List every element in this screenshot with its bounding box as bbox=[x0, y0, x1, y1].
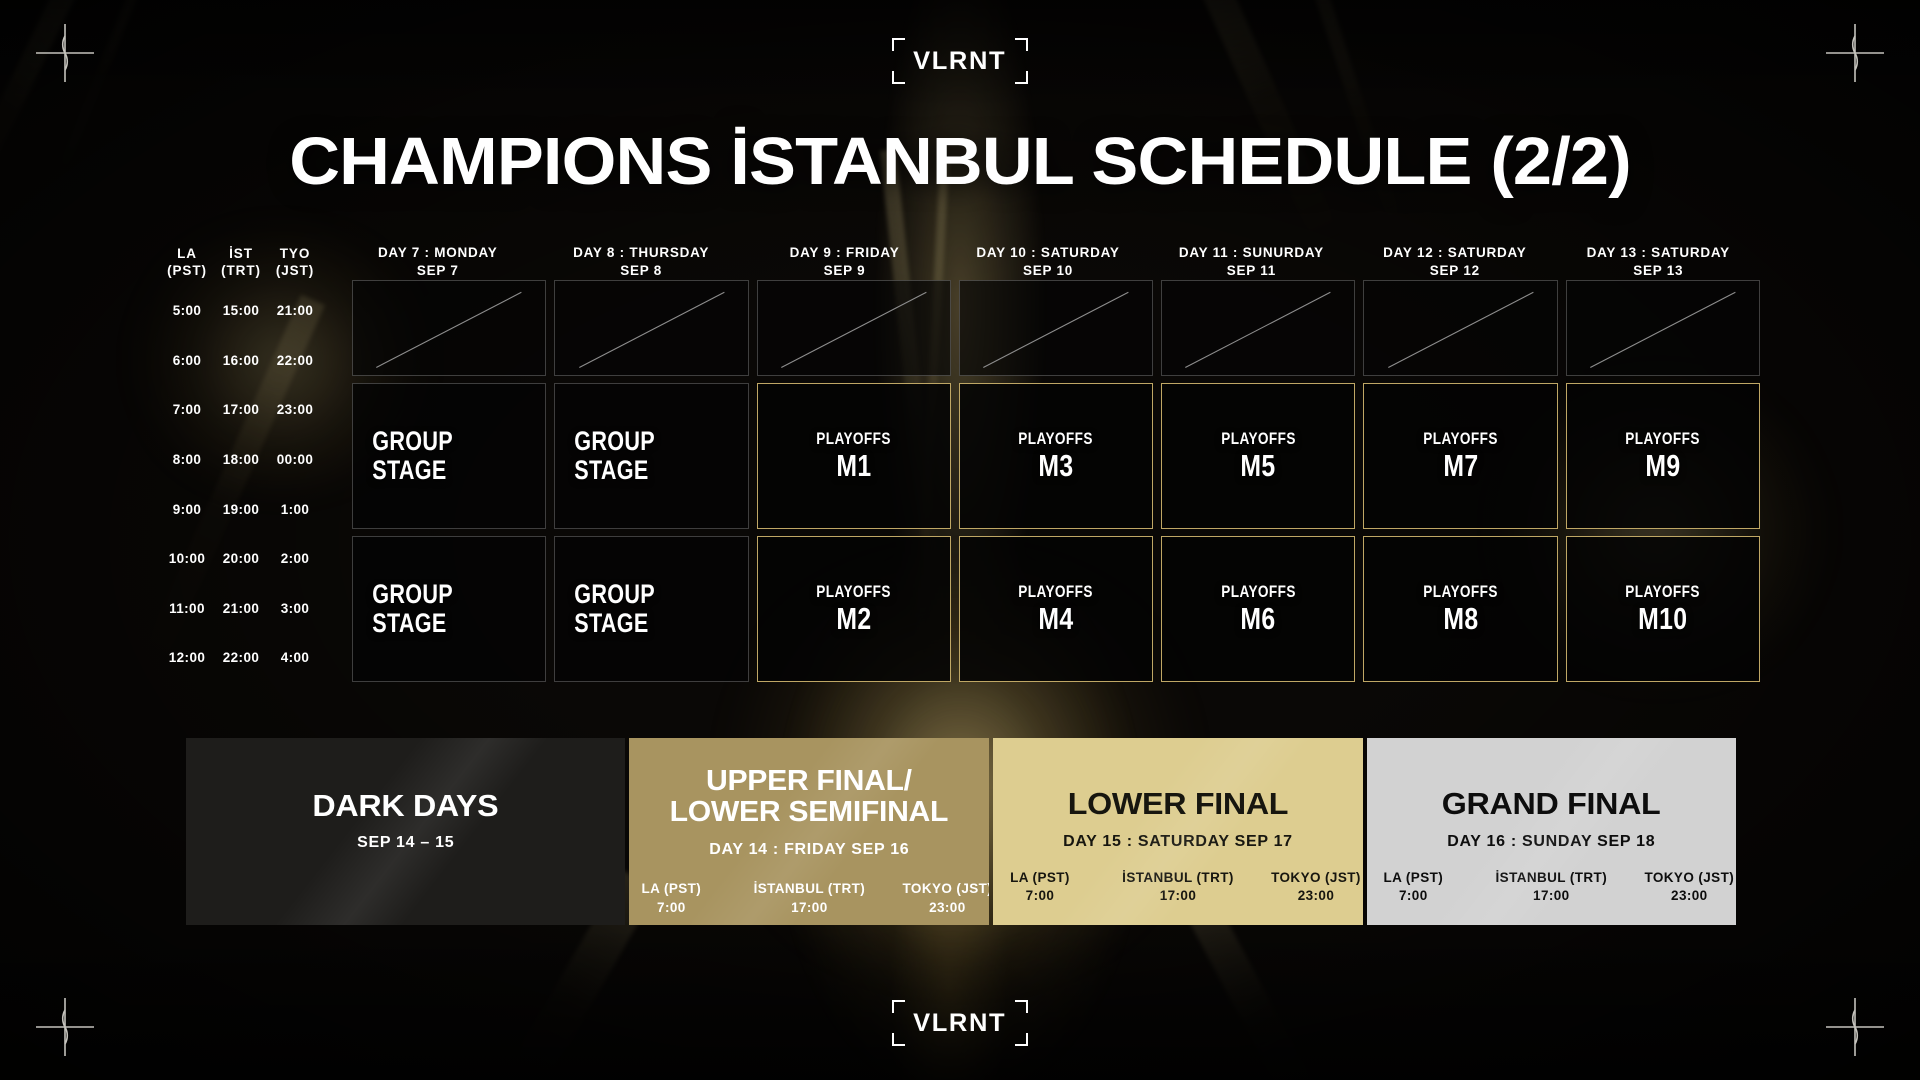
grid-row-match-2: GROUP STAGE GROUP STAGE PLAYOFFS M2 PLAY… bbox=[352, 536, 1760, 682]
panel-title-line1: UPPER FINAL/ bbox=[706, 765, 912, 797]
time-la: 9:00 bbox=[160, 502, 214, 517]
panel-timezones: LA (PST) 7:00 İSTANBUL (TRT) 17:00 TOKYO… bbox=[629, 880, 989, 916]
page-title: CHAMPIONS İSTANBUL SCHEDULE (2/2) bbox=[0, 128, 1920, 195]
bracket-corner-icon bbox=[1015, 1000, 1028, 1013]
crosshair-icon-bottom-left bbox=[34, 996, 96, 1058]
cell-label: GROUP STAGE bbox=[372, 580, 526, 638]
bracket-corner-icon bbox=[1015, 71, 1028, 84]
panel-timezone-istanbul: İSTANBUL (TRT) 17:00 bbox=[1495, 869, 1607, 905]
day-header-10: DAY 10 : SATURDAY SEP 10 bbox=[946, 244, 1149, 280]
schedule-cell-empty[interactable] bbox=[352, 280, 546, 376]
time-row: 11:00 21:00 3:00 bbox=[160, 584, 336, 634]
schedule-cell-playoff-m7[interactable]: PLAYOFFS M7 bbox=[1363, 383, 1557, 529]
grid-row-empty bbox=[352, 280, 1760, 376]
cell-label: PLAYOFFS bbox=[1423, 430, 1497, 449]
cell-label: GROUP STAGE bbox=[372, 427, 526, 485]
time-tyo: 21:00 bbox=[268, 303, 322, 318]
cell-match-id: M4 bbox=[1038, 603, 1073, 636]
schedule-cell-playoff-m5[interactable]: PLAYOFFS M5 bbox=[1161, 383, 1355, 529]
panel-upper-final[interactable]: UPPER FINAL/ LOWER SEMIFINAL DAY 14 : FR… bbox=[629, 738, 989, 925]
timezone-header-ist: İST (TRT) bbox=[214, 246, 268, 280]
diagonal-slash-icon bbox=[1382, 281, 1540, 375]
time-row: 9:00 19:00 1:00 bbox=[160, 484, 336, 534]
cell-label: PLAYOFFS bbox=[1221, 430, 1295, 449]
cell-label: PLAYOFFS bbox=[816, 583, 890, 602]
time-la: 10:00 bbox=[160, 551, 214, 566]
diagonal-slash-icon bbox=[775, 281, 933, 375]
bracket-corner-icon bbox=[892, 71, 905, 84]
panel-timezone-tokyo: TOKYO (JST) 23:00 bbox=[1633, 869, 1736, 905]
schedule-cell-playoff-m4[interactable]: PLAYOFFS M4 bbox=[959, 536, 1153, 682]
panel-sheen bbox=[186, 738, 625, 925]
cell-label: GROUP STAGE bbox=[575, 580, 729, 638]
time-ist: 18:00 bbox=[214, 452, 268, 467]
time-ist: 17:00 bbox=[214, 402, 268, 417]
cell-label: PLAYOFFS bbox=[1221, 583, 1295, 602]
panel-title: DARK DAYS bbox=[313, 790, 499, 823]
cell-match-id: M8 bbox=[1443, 603, 1478, 636]
time-row: 8:00 18:00 00:00 bbox=[160, 435, 336, 485]
panel-subtitle: SEP 14 – 15 bbox=[357, 834, 454, 852]
panel-timezone-la: LA (PST) 7:00 bbox=[993, 869, 1096, 905]
diagonal-slash-icon bbox=[1584, 281, 1742, 375]
time-tyo: 23:00 bbox=[268, 402, 322, 417]
schedule-cell-playoff-m8[interactable]: PLAYOFFS M8 bbox=[1363, 536, 1557, 682]
crosshair-icon-top-left bbox=[34, 22, 96, 84]
panel-grand-final[interactable]: GRAND FINAL DAY 16 : SUNDAY SEP 18 LA (P… bbox=[1367, 738, 1736, 925]
panel-title-line2: LOWER SEMIFINAL bbox=[670, 796, 948, 828]
schedule-cell-empty[interactable] bbox=[1363, 280, 1557, 376]
time-ist: 21:00 bbox=[214, 601, 268, 616]
panel-title: UPPER FINAL/ LOWER SEMIFINAL bbox=[670, 766, 948, 827]
time-la: 12:00 bbox=[160, 650, 214, 665]
day-header-11: DAY 11 : SUNURDAY SEP 11 bbox=[1150, 244, 1353, 280]
time-ist: 22:00 bbox=[214, 650, 268, 665]
schedule-cell-empty[interactable] bbox=[554, 280, 748, 376]
time-row: 12:00 22:00 4:00 bbox=[160, 633, 336, 683]
day-header-9: DAY 9 : FRIDAY SEP 9 bbox=[743, 244, 946, 280]
time-la: 8:00 bbox=[160, 452, 214, 467]
schedule-cell-group-stage[interactable]: GROUP STAGE bbox=[352, 383, 546, 529]
panel-timezone-tokyo: TOKYO (JST) 23:00 bbox=[1260, 869, 1363, 905]
wordmark: VLRNT bbox=[913, 47, 1006, 76]
cell-match-id: M10 bbox=[1638, 603, 1687, 636]
match-grid: GROUP STAGE GROUP STAGE PLAYOFFS M1 PLAY… bbox=[336, 280, 1760, 683]
vlrnt-logo-bottom: VLRNT bbox=[892, 1000, 1028, 1046]
time-row: 7:00 17:00 23:00 bbox=[160, 385, 336, 435]
timezone-header-tyo: TYO (JST) bbox=[268, 246, 322, 280]
diagonal-slash-icon bbox=[370, 281, 528, 375]
panel-timezone-istanbul: İSTANBUL (TRT) 17:00 bbox=[1122, 869, 1234, 905]
bracket-corner-icon bbox=[892, 1033, 905, 1046]
diagonal-slash-icon bbox=[1179, 281, 1337, 375]
cell-match-id: M7 bbox=[1443, 450, 1478, 483]
cell-label: PLAYOFFS bbox=[1423, 583, 1497, 602]
panel-timezone-tokyo: TOKYO (JST) 23:00 bbox=[891, 880, 989, 916]
time-tyo: 22:00 bbox=[268, 353, 322, 368]
cell-label: PLAYOFFS bbox=[1019, 583, 1093, 602]
time-tyo: 00:00 bbox=[268, 452, 322, 467]
schedule-cell-playoff-m1[interactable]: PLAYOFFS M1 bbox=[757, 383, 951, 529]
bracket-corner-icon bbox=[892, 38, 905, 51]
schedule-cell-playoff-m3[interactable]: PLAYOFFS M3 bbox=[959, 383, 1153, 529]
schedule-header-row: LA (PST) İST (TRT) TYO (JST) DAY 7 : MON… bbox=[160, 236, 1760, 280]
time-la: 6:00 bbox=[160, 353, 214, 368]
time-row: 10:00 20:00 2:00 bbox=[160, 534, 336, 584]
panel-lower-final[interactable]: LOWER FINAL DAY 15 : SATURDAY SEP 17 LA … bbox=[993, 738, 1362, 925]
schedule-cell-empty[interactable] bbox=[959, 280, 1153, 376]
cell-label: GROUP STAGE bbox=[575, 427, 729, 485]
schedule-table: LA (PST) İST (TRT) TYO (JST) DAY 7 : MON… bbox=[160, 236, 1760, 683]
time-la: 7:00 bbox=[160, 402, 214, 417]
time-ist: 19:00 bbox=[214, 502, 268, 517]
panel-timezones: LA (PST) 7:00 İSTANBUL (TRT) 17:00 TOKYO… bbox=[1367, 869, 1736, 905]
time-tyo: 1:00 bbox=[268, 502, 322, 517]
panel-subtitle: DAY 14 : FRIDAY SEP 16 bbox=[709, 841, 909, 859]
cell-label: PLAYOFFS bbox=[1626, 583, 1700, 602]
cell-match-id: M9 bbox=[1645, 450, 1680, 483]
bracket-corner-icon bbox=[1015, 38, 1028, 51]
cell-match-id: M1 bbox=[836, 450, 871, 483]
crosshair-icon-bottom-right bbox=[1824, 996, 1886, 1058]
panel-subtitle: DAY 15 : SATURDAY SEP 17 bbox=[1063, 833, 1293, 851]
bracket-corner-icon bbox=[1015, 1033, 1028, 1046]
panel-timezone-istanbul: İSTANBUL (TRT) 17:00 bbox=[753, 880, 865, 916]
time-la: 11:00 bbox=[160, 601, 214, 616]
grid-row-match-1: GROUP STAGE GROUP STAGE PLAYOFFS M1 PLAY… bbox=[352, 383, 1760, 529]
time-ist: 16:00 bbox=[214, 353, 268, 368]
panel-title: LOWER FINAL bbox=[1068, 788, 1288, 821]
schedule-cell-group-stage[interactable]: GROUP STAGE bbox=[352, 536, 546, 682]
day-header-8: DAY 8 : THURSDAY SEP 8 bbox=[539, 244, 742, 280]
panel-subtitle: DAY 16 : SUNDAY SEP 18 bbox=[1447, 833, 1655, 851]
schedule-cell-group-stage[interactable]: GROUP STAGE bbox=[554, 536, 748, 682]
time-tyo: 3:00 bbox=[268, 601, 322, 616]
cell-match-id: M5 bbox=[1241, 450, 1276, 483]
vlrnt-logo-top: VLRNT bbox=[892, 38, 1028, 84]
time-tyo: 4:00 bbox=[268, 650, 322, 665]
panel-dark-days[interactable]: DARK DAYS SEP 14 – 15 bbox=[186, 738, 625, 925]
bracket-corner-icon bbox=[892, 1000, 905, 1013]
diagonal-slash-icon bbox=[977, 281, 1135, 375]
cell-label: PLAYOFFS bbox=[816, 430, 890, 449]
cell-match-id: M3 bbox=[1038, 450, 1073, 483]
time-la: 5:00 bbox=[160, 303, 214, 318]
schedule-cell-playoff-m9[interactable]: PLAYOFFS M9 bbox=[1566, 383, 1760, 529]
schedule-cell-empty[interactable] bbox=[1566, 280, 1760, 376]
panel-title: GRAND FINAL bbox=[1442, 788, 1661, 821]
cell-label: PLAYOFFS bbox=[1626, 430, 1700, 449]
schedule-cell-group-stage[interactable]: GROUP STAGE bbox=[554, 383, 748, 529]
time-column: 5:00 15:00 21:00 6:00 16:00 22:00 7:00 1… bbox=[160, 280, 336, 683]
cell-match-id: M2 bbox=[836, 603, 871, 636]
panel-timezone-la: LA (PST) 7:00 bbox=[629, 880, 727, 916]
schedule-cell-empty[interactable] bbox=[1161, 280, 1355, 376]
day-header-13: DAY 13 : SATURDAY SEP 13 bbox=[1557, 244, 1760, 280]
finals-panels: DARK DAYS SEP 14 – 15 UPPER FINAL/ LOWER… bbox=[186, 738, 1736, 925]
time-ist: 20:00 bbox=[214, 551, 268, 566]
schedule-cell-empty[interactable] bbox=[757, 280, 951, 376]
panel-timezone-la: LA (PST) 7:00 bbox=[1367, 869, 1470, 905]
time-row: 6:00 16:00 22:00 bbox=[160, 336, 336, 386]
timezone-header-la: LA (PST) bbox=[160, 246, 214, 280]
time-ist: 15:00 bbox=[214, 303, 268, 318]
cell-label: PLAYOFFS bbox=[1019, 430, 1093, 449]
schedule-cell-playoff-m10[interactable]: PLAYOFFS M10 bbox=[1566, 536, 1760, 682]
day-header-12: DAY 12 : SATURDAY SEP 12 bbox=[1353, 244, 1556, 280]
day-header-7: DAY 7 : MONDAY SEP 7 bbox=[336, 244, 539, 280]
cell-match-id: M6 bbox=[1241, 603, 1276, 636]
schedule-cell-playoff-m6[interactable]: PLAYOFFS M6 bbox=[1161, 536, 1355, 682]
time-row: 5:00 15:00 21:00 bbox=[160, 286, 336, 336]
diagonal-slash-icon bbox=[573, 281, 731, 375]
schedule-cell-playoff-m2[interactable]: PLAYOFFS M2 bbox=[757, 536, 951, 682]
crosshair-icon-top-right bbox=[1824, 22, 1886, 84]
wordmark: VLRNT bbox=[913, 1009, 1006, 1038]
panel-timezones: LA (PST) 7:00 İSTANBUL (TRT) 17:00 TOKYO… bbox=[993, 869, 1362, 905]
time-tyo: 2:00 bbox=[268, 551, 322, 566]
schedule-body: 5:00 15:00 21:00 6:00 16:00 22:00 7:00 1… bbox=[160, 280, 1760, 683]
